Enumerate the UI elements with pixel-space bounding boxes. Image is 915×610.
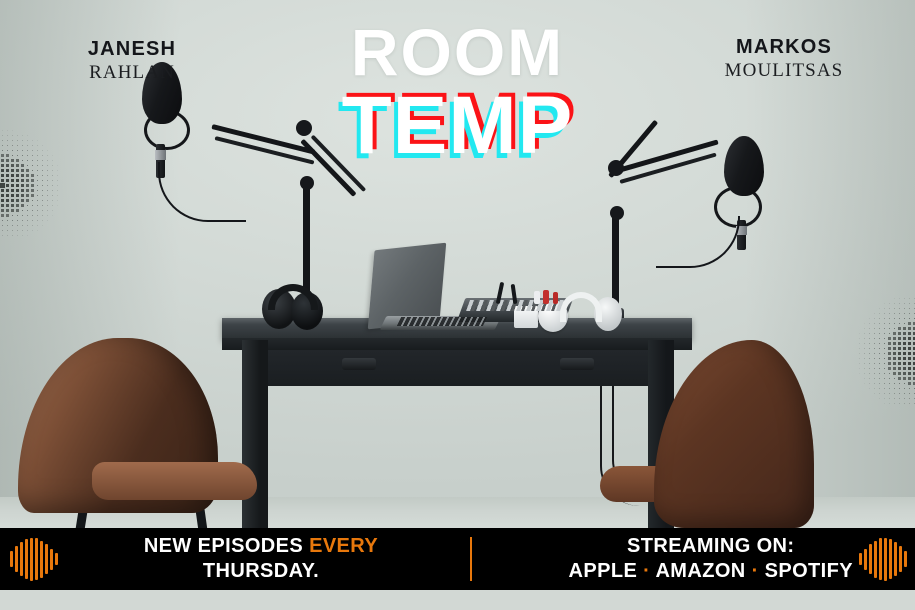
host-name-right: MARKOS MOULITSAS — [689, 36, 879, 82]
streaming-heading: STREAMING ON: — [569, 534, 853, 559]
desk-apron — [258, 350, 656, 386]
banner-bottom-fill — [0, 590, 915, 610]
host-name-left: JANESH RAHLAN — [42, 38, 222, 84]
streaming-text: STREAMING ON: APPLE · AMAZON · SPOTIFY — [559, 534, 859, 584]
platform-amazon: AMAZON — [655, 560, 745, 582]
schedule-line-1: NEW EPISODES EVERY — [58, 534, 464, 559]
soundwave-icon-right — [859, 537, 907, 581]
mixer-plug-red-2 — [553, 292, 558, 304]
schedule-text: NEW EPISODES EVERY THURSDAY. — [58, 534, 470, 584]
mixer-plug-white-1 — [534, 291, 540, 304]
schedule-accent: EVERY — [309, 535, 378, 557]
host-right-first-name: MARKOS — [689, 36, 879, 59]
soundwave-icon-left — [10, 537, 58, 581]
title-temp-main: TEMP — [0, 86, 915, 166]
banner-right-section: STREAMING ON: APPLE · AMAZON · SPOTIFY — [472, 528, 915, 590]
desk-edge — [222, 338, 692, 350]
host-right-last-name: MOULITSAS — [689, 60, 879, 82]
host-left-last-name: RAHLAN — [42, 62, 222, 84]
mixer-plug-red-1 — [543, 290, 549, 304]
chair-left-seat — [92, 462, 257, 500]
banner-left-section: NEW EPISODES EVERY THURSDAY. — [0, 528, 470, 590]
mic-arm-joint-lower — [300, 176, 314, 190]
laptop-keyboard — [397, 317, 487, 326]
desk-drawer-pull-right — [560, 358, 594, 370]
mic-cable-right — [656, 216, 740, 268]
platform-separator-2: · — [752, 560, 759, 582]
platform-separator-1: · — [643, 560, 650, 582]
desk-leg-left — [242, 340, 268, 530]
platform-apple: APPLE — [569, 560, 638, 582]
schedule-prefix: NEW EPISODES — [144, 535, 309, 557]
mic-cable-left — [158, 162, 246, 222]
streaming-platforms: APPLE · AMAZON · SPOTIFY — [569, 559, 853, 584]
info-banner: NEW EPISODES EVERY THURSDAY. STREAMING O… — [0, 528, 915, 590]
podcast-poster: ROOM TEMP TEMP TEMP JANESH RAHLAN MARKOS… — [0, 0, 915, 610]
platform-spotify: SPOTIFY — [765, 560, 853, 582]
mic-arm-joint-lower-right — [610, 206, 624, 220]
title-line-temp-holder: TEMP TEMP TEMP — [0, 86, 915, 168]
desk-drawer-pull-left — [342, 358, 376, 370]
schedule-line-2: THURSDAY. — [58, 559, 464, 584]
host-left-first-name: JANESH — [42, 38, 222, 61]
